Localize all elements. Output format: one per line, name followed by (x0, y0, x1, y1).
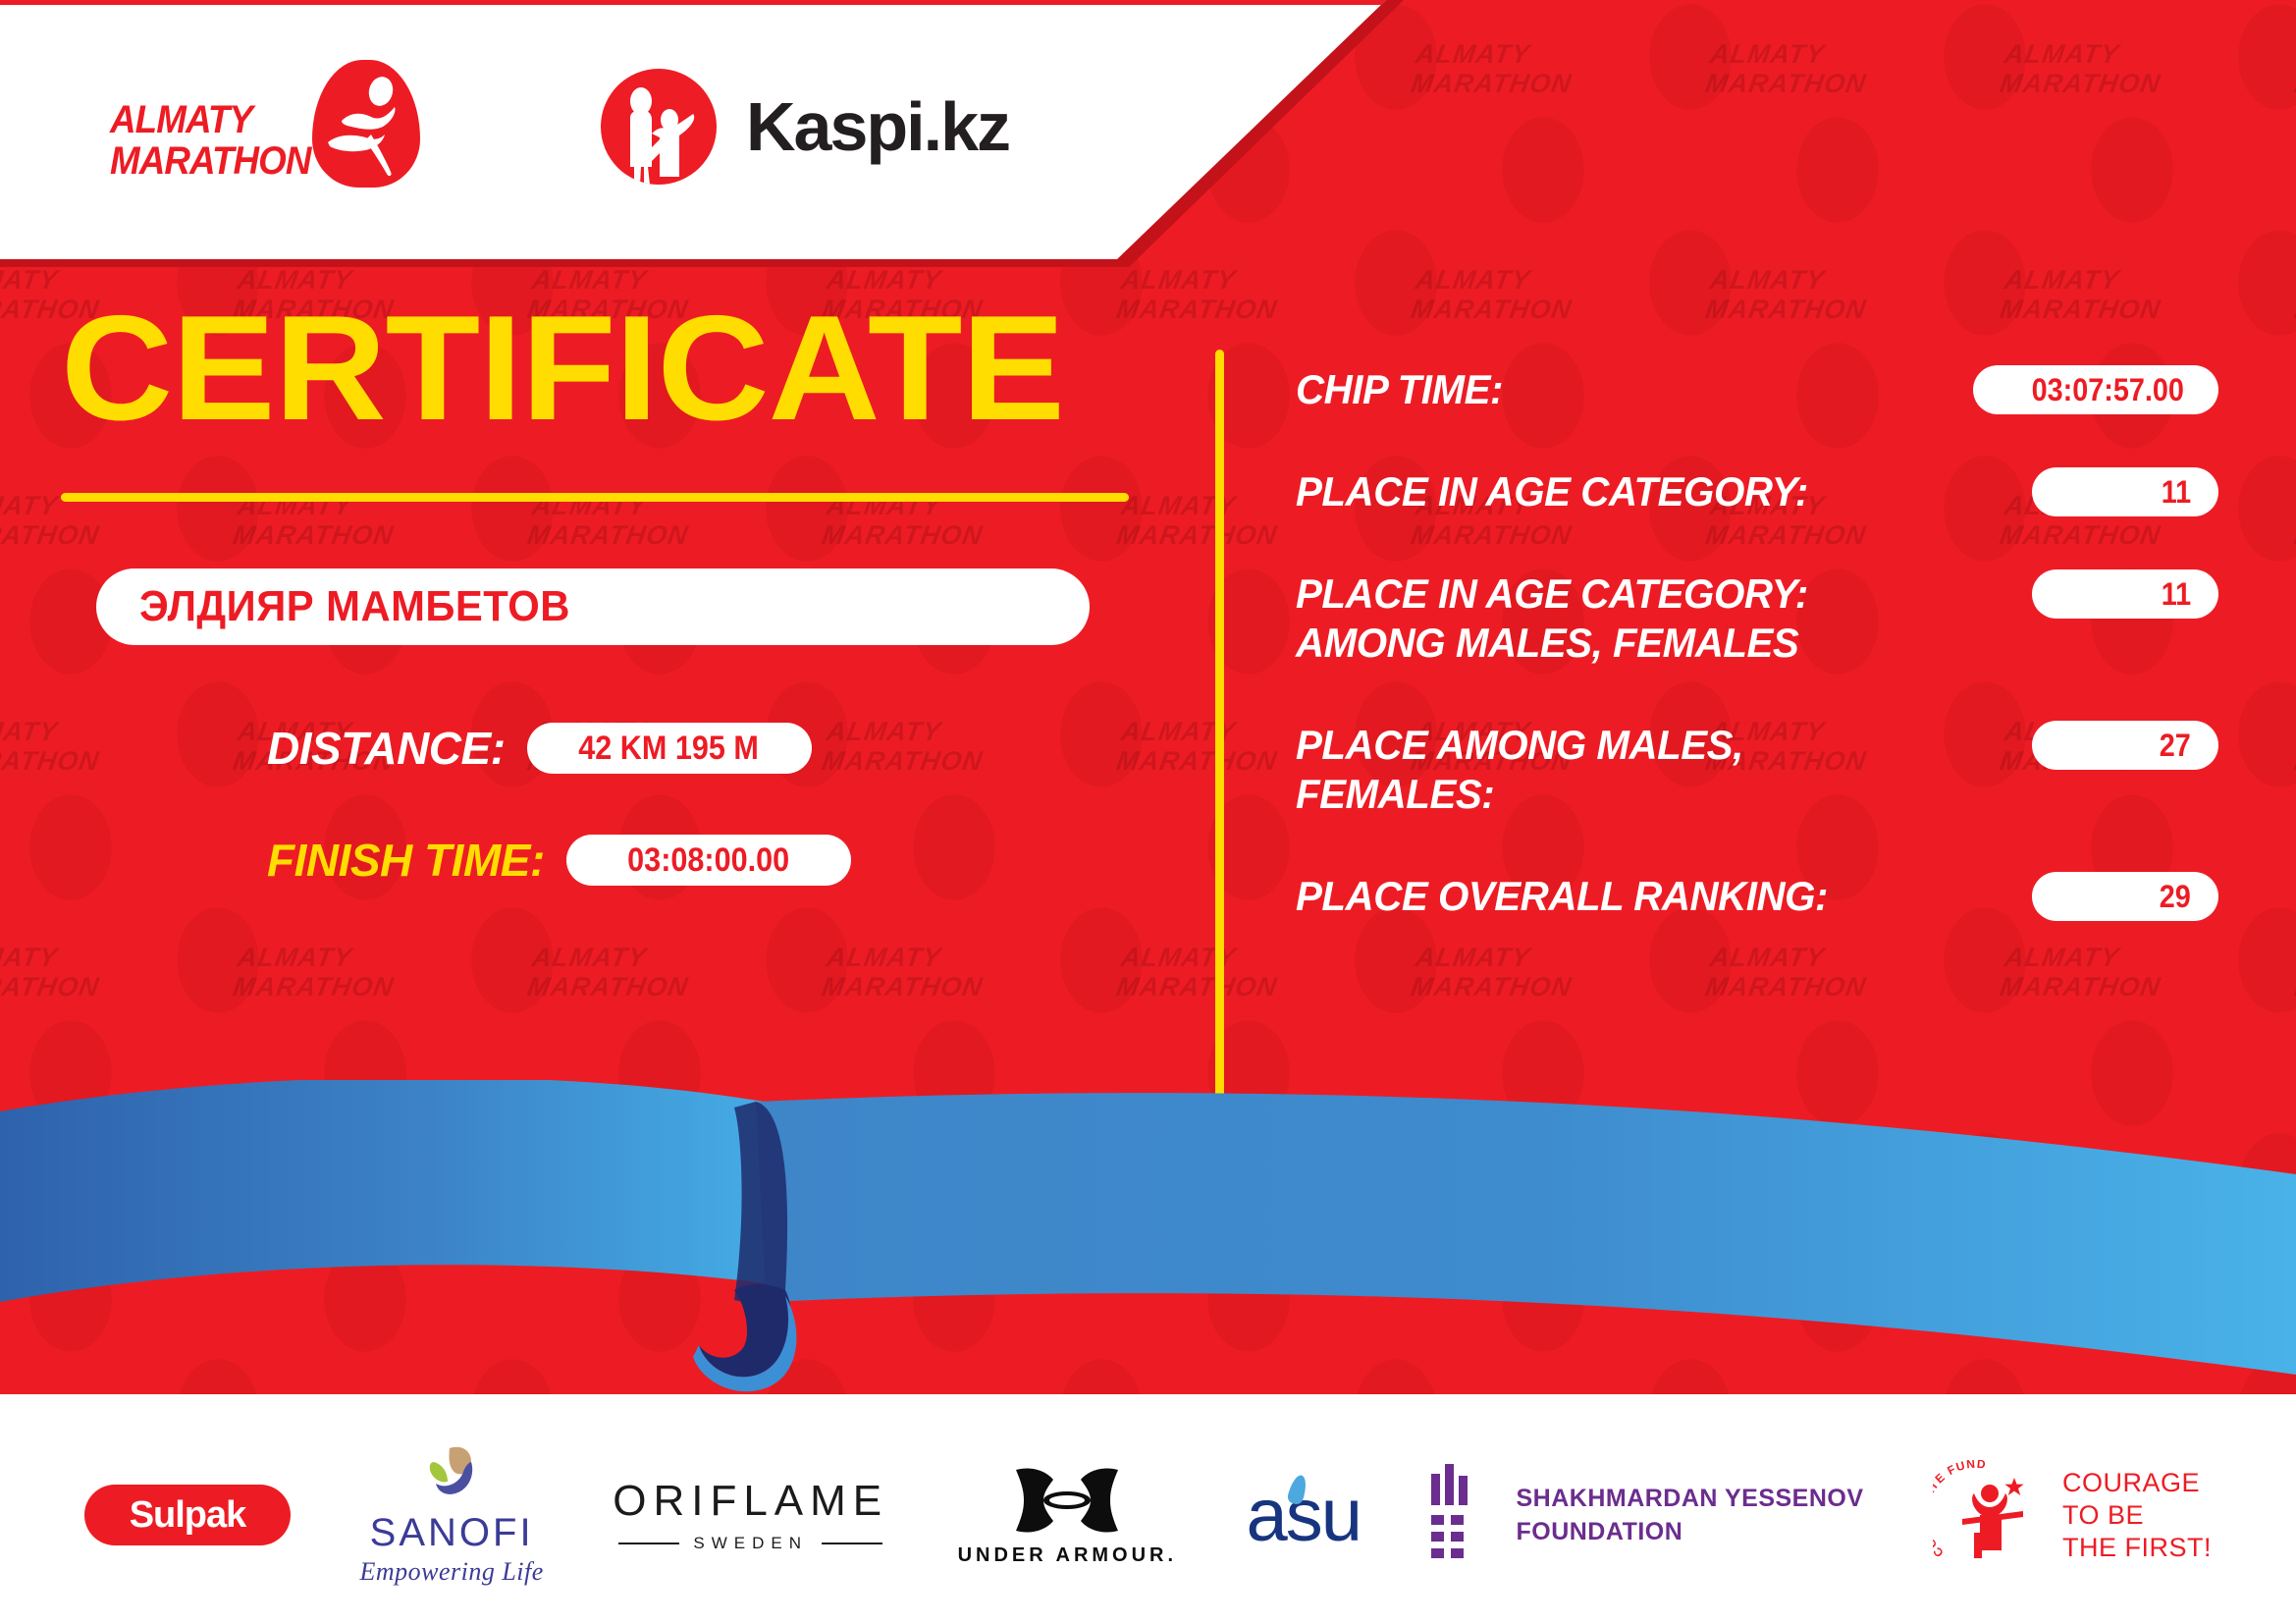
sanofi-tagline: Empowering Life (359, 1557, 543, 1587)
almaty-logo-line2: MARATHON (110, 140, 311, 182)
stat-row: PLACE IN AGE CATEGORY:AMONG MALES, FEMAL… (1296, 569, 2218, 668)
left-column: CERTIFICATE ЭЛДИЯР МАМБЕТОВ DISTANCE: 42… (0, 295, 1217, 887)
finish-time-label: FINISH TIME: (267, 834, 545, 887)
oriflame-wordmark: ORIFLAME (613, 1477, 888, 1526)
courage-line2: TO BE (2062, 1499, 2212, 1532)
asu-wordmark: asu (1247, 1473, 1362, 1558)
oriflame-sub: SWEDEN (618, 1534, 882, 1553)
stat-value-pill: 03:07:57.00 (1973, 365, 2218, 414)
sponsor-logo-under-armour: UNDER ARMOUR. (958, 1464, 1177, 1567)
page-title: CERTIFICATE (61, 295, 1174, 442)
participant-name-value: ЭЛДИЯР МАМБЕТОВ (139, 582, 570, 631)
kaspi-wordmark: Kaspi.kz (746, 87, 1009, 166)
stat-value-pill: 11 (2032, 569, 2218, 619)
sponsor-bar: Sulpak SANOFI Empowering Life ORIFLAME S… (0, 1406, 2296, 1624)
stat-value-pill: 29 (2032, 872, 2218, 921)
stat-label-line1: PLACE AMONG MALES, (1296, 721, 1986, 770)
courage-line1: COURAGE (2062, 1467, 2212, 1499)
sponsor-logo-yessenov: SHAKHMARDAN YESSENOV FOUNDATION (1429, 1464, 1863, 1566)
finish-time-row: FINISH TIME: 03:08:00.00 (267, 834, 1217, 887)
yessenov-line1: SHAKHMARDAN YESSENOV (1516, 1482, 1863, 1515)
stat-row: CHIP TIME:03:07:57.00 (1296, 365, 2218, 414)
finish-time-value: 03:08:00.00 (627, 841, 789, 880)
stat-label-line1: PLACE OVERALL RANKING: (1296, 872, 1986, 921)
certificate-canvas: ALMATY MARATHONALMATY MARATHONALMATY MAR… (0, 0, 2296, 1624)
yessenov-mark-icon (1429, 1464, 1490, 1566)
stat-value: 03:07:57.00 (2032, 372, 2184, 408)
almaty-marathon-wordmark: ALMATY MARATHON (110, 99, 311, 182)
stat-label: PLACE IN AGE CATEGORY:AMONG MALES, FEMAL… (1296, 569, 2002, 668)
vertical-divider (1215, 350, 1224, 1106)
distance-value: 42 KM 195 M (579, 730, 760, 768)
stat-label: CHIP TIME: (1296, 365, 1946, 414)
oriflame-sweden-label: SWEDEN (693, 1534, 808, 1553)
stat-row: PLACE OVERALL RANKING:29 (1296, 872, 2218, 921)
title-divider (61, 493, 1129, 502)
stat-label-line1: CHIP TIME: (1296, 365, 1929, 414)
stat-label-line1: PLACE IN AGE CATEGORY: (1296, 569, 1986, 619)
kaspi-family-icon (601, 69, 717, 185)
sponsor-logo-asu: asu (1247, 1473, 1362, 1558)
stat-label: PLACE AMONG MALES,FEMALES: (1296, 721, 2002, 819)
stat-label: PLACE OVERALL RANKING: (1296, 872, 2002, 921)
sulpak-wordmark: Sulpak (130, 1494, 246, 1537)
courage-runner-icon: CORPORATE FUND (1933, 1460, 2051, 1570)
courage-wordmark: COURAGE TO BE THE FIRST! (2062, 1467, 2212, 1564)
distance-row: DISTANCE: 42 KM 195 M (267, 722, 1217, 775)
header-logos: ALMATY MARATHON Kaspi.kz (0, 0, 1386, 253)
sanofi-wordmark: SANOFI (370, 1511, 534, 1555)
oriflame-rule-left (618, 1543, 679, 1544)
distance-value-pill: 42 KM 195 M (527, 723, 812, 774)
courage-line3: THE FIRST! (2062, 1532, 2212, 1564)
stat-row: PLACE IN AGE CATEGORY:11 (1296, 467, 2218, 516)
participant-name-field: ЭЛДИЯР МАМБЕТОВ (96, 568, 1090, 645)
yessenov-wordmark: SHAKHMARDAN YESSENOV FOUNDATION (1516, 1482, 1863, 1548)
kaspi-logo: Kaspi.kz (601, 69, 1009, 185)
almaty-logo-line1: ALMATY (110, 99, 311, 140)
oriflame-rule-right (822, 1543, 882, 1544)
almaty-marathon-logo: ALMATY MARATHON (110, 58, 434, 195)
sponsor-logo-courage: CORPORATE FUND COURAGE TO BE THE FIRST! (1933, 1460, 2212, 1570)
under-armour-wordmark: UNDER ARMOUR. (958, 1544, 1177, 1567)
stat-value: 11 (2162, 576, 2191, 613)
yessenov-line2: FOUNDATION (1516, 1515, 1863, 1548)
stats-column: CHIP TIME:03:07:57.00PLACE IN AGE CATEGO… (1296, 365, 2218, 974)
stat-value-pill: 11 (2032, 467, 2218, 516)
sponsor-logo-sanofi: SANOFI Empowering Life (359, 1444, 543, 1587)
finish-time-value-pill: 03:08:00.00 (566, 835, 851, 886)
stat-label: PLACE IN AGE CATEGORY: (1296, 467, 2002, 516)
sponsor-logo-sulpak: Sulpak (84, 1485, 291, 1545)
stat-label-line2: FEMALES: (1296, 770, 1986, 819)
distance-label: DISTANCE: (267, 722, 506, 775)
stat-value: 29 (2160, 879, 2191, 915)
sanofi-mark-icon (420, 1444, 483, 1505)
stat-value: 27 (2160, 728, 2191, 764)
runner-icon (318, 70, 416, 180)
stat-value: 11 (2162, 474, 2191, 511)
stat-value-pill: 27 (2032, 721, 2218, 770)
stat-label-line2: AMONG MALES, FEMALES (1296, 619, 1986, 668)
stat-label-line1: PLACE IN AGE CATEGORY: (1296, 467, 1986, 516)
under-armour-icon (1012, 1464, 1122, 1537)
stat-row: PLACE AMONG MALES,FEMALES:27 (1296, 721, 2218, 819)
sponsor-logo-oriflame: ORIFLAME SWEDEN (613, 1477, 888, 1553)
